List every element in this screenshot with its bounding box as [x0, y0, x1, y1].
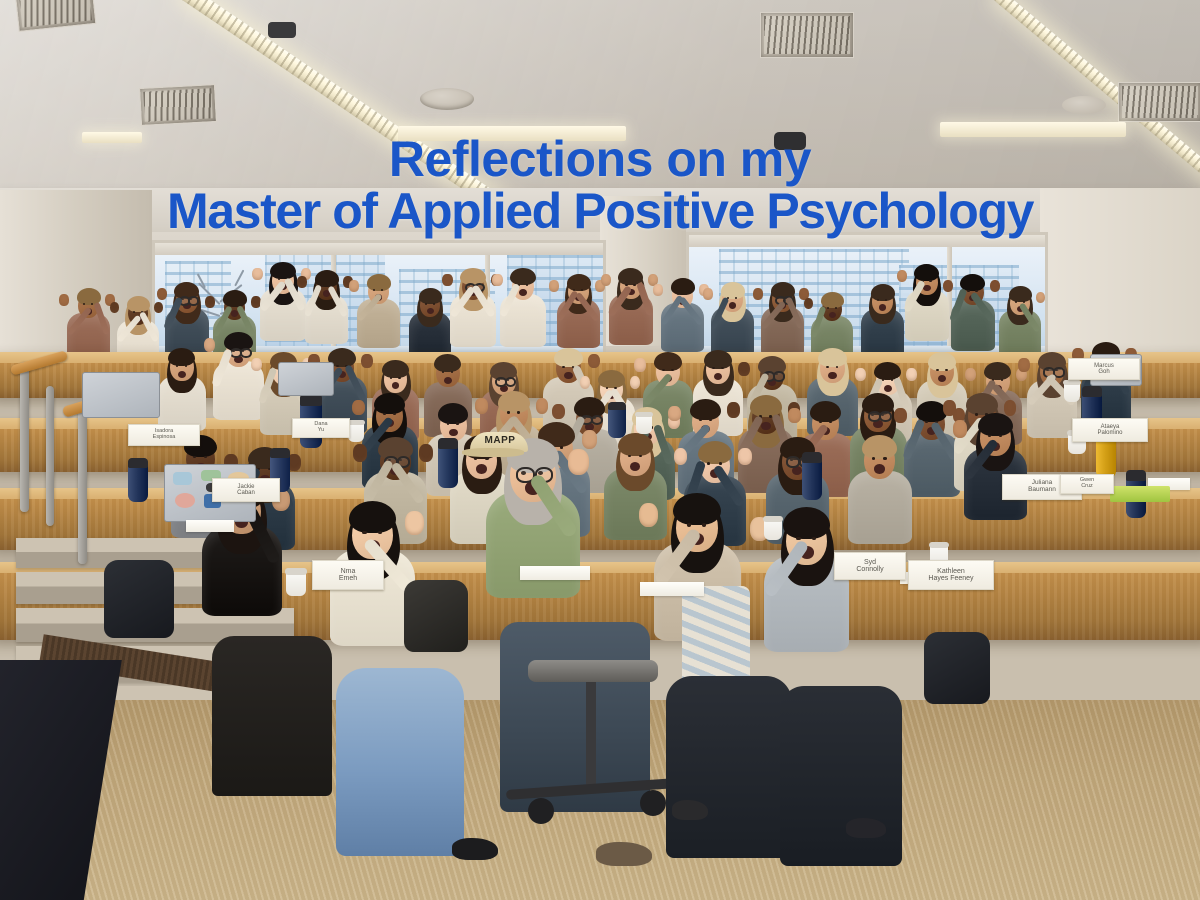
person-hair-top	[1009, 286, 1032, 302]
bottle-cap	[608, 402, 626, 410]
person-open-mouth	[729, 302, 736, 308]
person-hair-top	[671, 278, 695, 294]
laptop	[82, 372, 160, 418]
handrail-post	[46, 386, 54, 526]
paper-stack	[186, 520, 234, 532]
person-hand	[634, 358, 645, 372]
person-hair-top	[966, 393, 998, 414]
person-hand	[297, 276, 307, 288]
person-hand	[419, 444, 433, 461]
nameplate: IsadoraEspinosa	[128, 424, 200, 446]
nameplate: AtaeyaPalomino	[1072, 418, 1148, 442]
person-eye	[988, 435, 991, 438]
nameplate-line-2: Goh	[1098, 369, 1109, 375]
handrail-post	[78, 404, 87, 564]
coffee-cup	[286, 568, 306, 596]
person-hand	[738, 362, 749, 376]
person-eye	[796, 537, 800, 541]
person-eye	[836, 366, 839, 368]
window-blind-valance	[155, 243, 603, 255]
person-open-mouth	[476, 464, 487, 473]
person-eye	[278, 278, 280, 280]
wall-pillar-right	[1040, 188, 1200, 368]
person-open-mouth	[829, 312, 836, 318]
person-hair-top	[598, 370, 624, 388]
person-hand	[349, 280, 359, 292]
person-hand	[943, 280, 953, 292]
person-eye	[517, 411, 520, 413]
nameplate-line-2: Baumann	[1028, 487, 1056, 494]
shoe	[672, 800, 708, 820]
person-hair-top	[914, 264, 939, 281]
bottle-cap	[802, 452, 822, 463]
person-open-mouth	[923, 285, 930, 291]
photo-canvas: MAPP MarcusGohAtaeyaPalominoJulianaBauma…	[0, 0, 1200, 900]
person-hand	[1036, 292, 1045, 304]
person-hand	[353, 444, 367, 461]
person-eye	[812, 537, 816, 541]
person-hand	[674, 448, 688, 465]
person-hair-top	[510, 268, 536, 285]
recessed-light	[940, 122, 1126, 137]
glasses-icon	[240, 348, 252, 358]
person-eye	[628, 455, 631, 458]
recessed-light	[82, 132, 142, 143]
person-hand	[727, 402, 740, 418]
person-open-mouth	[564, 372, 573, 379]
cap-brim	[462, 448, 524, 457]
person-hair-top	[978, 413, 1013, 436]
person-hair-top	[382, 360, 408, 378]
cup-lid	[285, 568, 307, 575]
person-hair-top	[498, 391, 530, 412]
person-open-mouth	[444, 377, 452, 384]
person-eye	[702, 523, 706, 527]
person-eye	[606, 387, 608, 389]
water-bottle	[802, 452, 822, 500]
nameplate-line-1: Kathleen	[937, 568, 965, 575]
nameplate: MarcusGoh	[1068, 358, 1140, 380]
nameplate-line-1: Syd	[864, 559, 876, 566]
cup-lid	[1063, 380, 1081, 385]
person-open-mouth	[874, 464, 885, 473]
person-hand	[361, 354, 372, 368]
nameplate-line-2: Caban	[237, 490, 255, 496]
hvac-vent	[139, 84, 217, 126]
smoke-detector-icon	[1062, 96, 1106, 114]
person-open-mouth	[178, 371, 186, 378]
nameplate-line-2: Hayes Feeney	[928, 575, 973, 582]
ceiling-speaker-icon	[774, 132, 806, 150]
office-chair-column	[586, 682, 596, 792]
smoke-detector-icon	[420, 88, 474, 110]
person-eye	[447, 422, 450, 424]
person-hand	[251, 296, 261, 308]
person-eye	[883, 457, 886, 460]
person-hand	[588, 354, 600, 368]
bottle-cap	[1126, 470, 1146, 481]
person-hair-top	[704, 350, 732, 369]
person-eye	[451, 371, 453, 373]
person-hair-top	[783, 507, 830, 539]
person-hand	[965, 368, 976, 382]
bottle-cap	[270, 448, 290, 458]
person-hand	[352, 400, 365, 415]
person-eye	[872, 457, 875, 460]
person-hand	[788, 408, 801, 423]
person-hand	[157, 288, 167, 300]
nameplate-line-2: Cruz	[1081, 484, 1093, 490]
laptop-lid	[278, 362, 334, 396]
recessed-light	[398, 126, 626, 141]
person-trousers	[666, 676, 792, 858]
person-eye	[975, 413, 978, 415]
person-hand	[552, 404, 565, 419]
person-lower-body	[212, 636, 332, 796]
person-hair-top	[349, 501, 396, 533]
person-eye	[362, 531, 366, 535]
person-hand	[953, 420, 967, 437]
person-eye	[709, 419, 712, 421]
person-hand	[906, 368, 917, 382]
coffee-cup	[348, 420, 364, 442]
person-hand	[1004, 400, 1017, 416]
person-eye	[398, 377, 400, 379]
bottle-cap	[1082, 386, 1102, 397]
person-hand	[897, 270, 907, 282]
person-open-mouth	[828, 372, 837, 379]
cap-text: MAPP	[482, 435, 518, 447]
vent-grill	[18, 0, 92, 28]
laptop-sticker	[173, 472, 191, 485]
nameplate: GwenCruz	[1060, 474, 1114, 494]
water-bottle	[438, 438, 458, 488]
person-hair-top	[928, 352, 956, 371]
ceiling-speaker-icon	[268, 22, 296, 38]
person-eye	[185, 365, 187, 367]
person-hand	[601, 274, 611, 286]
person-hand	[492, 274, 502, 287]
chair-caster	[528, 798, 554, 824]
shoe	[596, 842, 652, 866]
person-hair-top	[434, 354, 461, 372]
person-hair-top	[367, 274, 391, 290]
person-hair-top	[567, 274, 591, 290]
glasses-icon	[879, 411, 892, 422]
person-eye	[507, 411, 510, 413]
person-hand	[205, 296, 215, 308]
person-hair-top	[871, 284, 895, 300]
person-hair-top	[419, 288, 442, 304]
handrail-post	[20, 362, 29, 512]
person-eye	[819, 421, 822, 423]
nameplate: SydConnolly	[834, 552, 906, 580]
shoe	[452, 838, 498, 860]
person-hair-top	[374, 393, 405, 414]
person-hand	[990, 280, 1000, 292]
green-folder	[1110, 486, 1170, 502]
person-eye	[975, 290, 977, 292]
vent-grill	[143, 88, 212, 122]
person-eye	[829, 421, 832, 423]
person-open-mouth	[761, 422, 770, 430]
glasses-icon	[188, 296, 199, 305]
person-torso	[357, 299, 400, 348]
person-hand	[251, 358, 262, 372]
person-hand	[703, 288, 713, 300]
person-eye	[383, 413, 386, 415]
person-eye	[925, 421, 928, 423]
glasses-icon	[773, 371, 785, 381]
person-eye	[687, 523, 691, 527]
person-eye	[456, 422, 459, 424]
glasses-icon	[786, 456, 800, 468]
person-hand	[639, 503, 658, 527]
person-hand	[653, 284, 663, 296]
person-hair-top	[984, 362, 1011, 380]
person-hand	[630, 376, 641, 389]
person-hair-top	[818, 348, 847, 367]
person	[510, 446, 619, 615]
water-bottle	[608, 402, 626, 438]
person-hand	[738, 448, 752, 465]
shoe	[846, 818, 886, 838]
person-hair-top	[127, 296, 150, 312]
person-eye	[835, 307, 837, 309]
person-open-mouth	[427, 308, 434, 314]
nameplate: NmaEmeh	[312, 560, 384, 590]
cup-lid	[635, 412, 653, 417]
cup-lid	[763, 516, 783, 522]
mapp-cap: MAPP	[470, 432, 528, 458]
coffee-cup	[1064, 380, 1080, 402]
nameplate-line-2: Connolly	[856, 566, 883, 573]
laptop-lid	[82, 372, 160, 418]
backpack	[104, 560, 174, 638]
nameplate-line-1: Nma	[341, 568, 356, 575]
hvac-vent	[1118, 82, 1200, 122]
person-hand	[405, 511, 424, 535]
person-eye	[826, 366, 829, 368]
nameplate: KathleenHayes Feeney	[908, 560, 994, 590]
paper-stack	[520, 566, 590, 580]
tote-bag	[404, 580, 468, 652]
coffee-cup	[764, 516, 782, 540]
hvac-vent	[760, 12, 854, 58]
person-eye	[393, 413, 396, 415]
nameplate-line-2: Espinosa	[153, 435, 176, 441]
person-hand	[442, 274, 452, 287]
person-eye	[719, 462, 722, 465]
person-hand	[580, 376, 591, 389]
person-hair-top	[673, 493, 721, 525]
person-hand	[475, 398, 488, 414]
chair-caster	[640, 790, 666, 816]
person-hair-top	[223, 290, 247, 306]
paper-stack	[640, 582, 704, 596]
nameplate-line-2: Emeh	[339, 575, 357, 582]
person-hand	[943, 400, 956, 416]
person-hand	[59, 294, 69, 306]
person-trousers	[780, 686, 902, 866]
office-chair-seat	[528, 660, 658, 682]
person-eye	[433, 303, 435, 305]
person-eye	[1001, 379, 1003, 381]
person-hand	[855, 368, 866, 382]
person-hair-top	[168, 348, 195, 366]
person-hair-top	[698, 441, 732, 464]
person-hand	[668, 406, 681, 421]
vent-grill	[764, 16, 850, 54]
nameplate-line-2: Palomino	[1097, 430, 1122, 436]
person-hair-top	[654, 352, 682, 371]
vent-grill	[1122, 86, 1198, 118]
window-blind-valance	[689, 235, 1045, 247]
person-eye	[562, 366, 565, 368]
person-eye	[967, 290, 969, 292]
person-hand	[894, 408, 907, 423]
backpack	[924, 632, 990, 704]
nameplate: JackieCaban	[212, 478, 280, 502]
water-bottle	[128, 458, 148, 502]
person-hand	[568, 449, 589, 475]
person-eye	[633, 284, 635, 286]
person-hair-top	[810, 401, 841, 422]
nameplate-line-2: Yu	[318, 428, 324, 434]
person-hair-top	[690, 399, 721, 420]
bottle-cap	[128, 458, 148, 468]
bottle-cap	[438, 438, 458, 449]
person-hand	[753, 288, 763, 300]
coffee-cup	[636, 412, 652, 434]
person	[786, 514, 886, 668]
person-eye	[378, 531, 382, 535]
person-open-mouth	[884, 385, 892, 392]
person-open-mouth	[879, 304, 886, 310]
person-eye	[390, 377, 392, 379]
person-hand	[549, 280, 559, 292]
person-hair-top	[438, 403, 468, 423]
laptop	[278, 362, 334, 396]
person-hand	[536, 398, 549, 414]
person-hair-top	[270, 262, 296, 279]
person-eye	[929, 280, 931, 282]
person-hand	[1018, 358, 1029, 372]
nameplate: DanaYu	[292, 418, 350, 438]
person-eye	[699, 419, 702, 421]
person-hand	[252, 268, 262, 281]
person-jeans	[336, 668, 464, 856]
person-hand	[154, 302, 163, 314]
person-hair-top	[554, 348, 583, 367]
cup-lid	[929, 542, 949, 548]
person-hair-top	[821, 292, 844, 308]
person-hair-top	[721, 282, 745, 298]
